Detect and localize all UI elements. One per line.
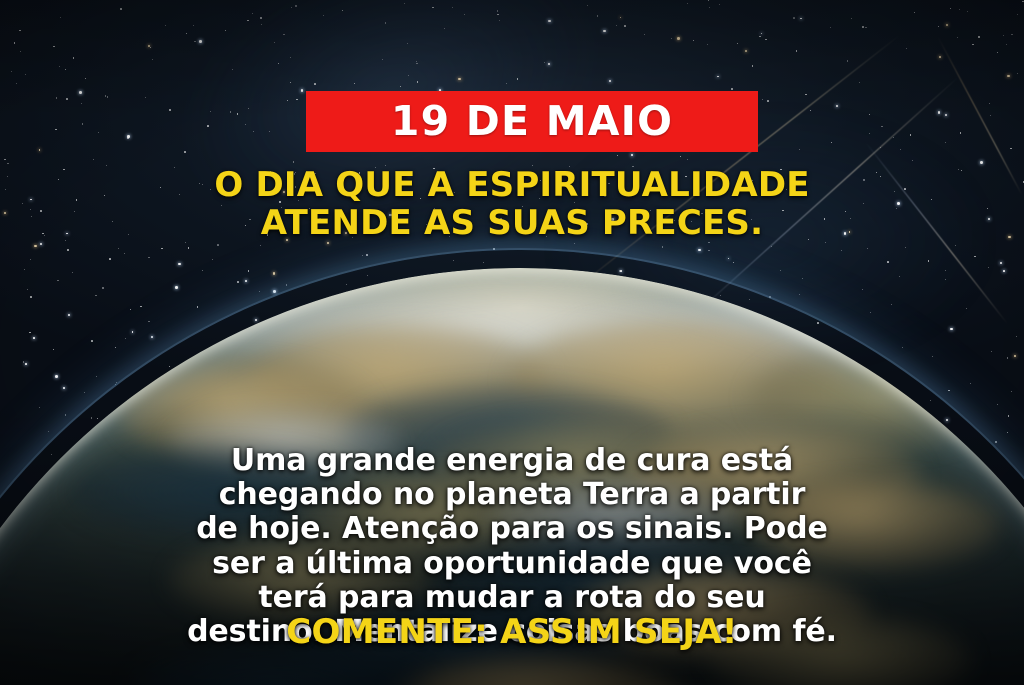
headline-line-2: ATENDE AS SUAS PRECES. xyxy=(0,204,1024,242)
cta-text: COMENTE: ASSIM SEJA! xyxy=(0,615,1024,649)
body-line-1: Uma grande energia de cura está xyxy=(0,444,1024,478)
body-line-5: terá para mudar a rota do seu xyxy=(0,581,1024,615)
poster-canvas: 19 DE MAIO O DIA QUE A ESPIRITUALIDADE A… xyxy=(0,0,1024,685)
body-line-2: chegando no planeta Terra a partir xyxy=(0,478,1024,512)
body-line-4: ser a última oportunidade que você xyxy=(0,547,1024,581)
headline-line-1: O DIA QUE A ESPIRITUALIDADE xyxy=(0,166,1024,204)
poster-content: 19 DE MAIO O DIA QUE A ESPIRITUALIDADE A… xyxy=(0,0,1024,685)
body-line-3: de hoje. Atenção para os sinais. Pode xyxy=(0,512,1024,546)
headline: O DIA QUE A ESPIRITUALIDADE ATENDE AS SU… xyxy=(0,166,1024,242)
date-banner: 19 DE MAIO xyxy=(306,91,758,152)
date-banner-text: 19 DE MAIO xyxy=(391,101,673,142)
